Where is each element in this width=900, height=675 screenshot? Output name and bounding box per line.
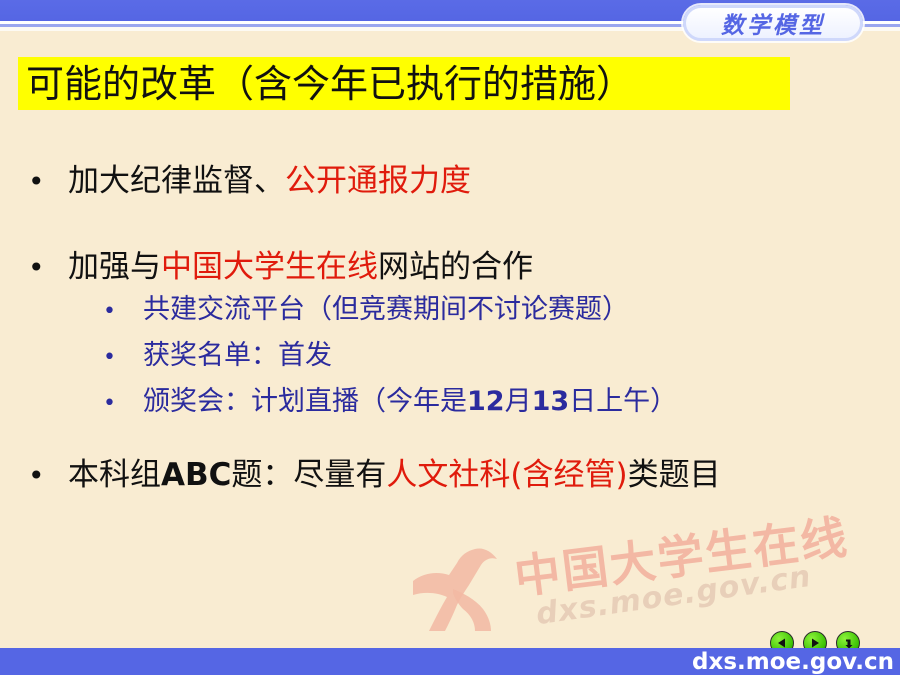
bullet-2-segment-plain-b: 网站的合作 xyxy=(378,249,533,285)
course-badge: 数学模型 xyxy=(683,5,863,41)
bullet-2-segment-plain-a: 加强与 xyxy=(68,249,161,285)
bullet-item-3: • 本科组ABC题：尽量有人文社科(含经管)类题目 xyxy=(0,458,900,494)
slide-title-band: 可能的改革（含今年已执行的措施） xyxy=(18,57,790,110)
presentation-slide: 数学模型 可能的改革（含今年已执行的措施） • 加大纪律监督、公开通报力度 • … xyxy=(0,0,900,675)
footer-url: dxs.moe.gov.cn xyxy=(692,649,894,675)
page-title: 可能的改革（含今年已执行的措施） xyxy=(26,65,634,103)
course-badge-label: 数学模型 xyxy=(721,6,825,40)
bullet-1-segment-red: 公开通报力度 xyxy=(285,163,471,199)
sub-bullet-text-1: 共建交流平台（但竞赛期间不讨论赛题） xyxy=(143,294,629,325)
sub-bullet-3-segment-b: 月 xyxy=(505,386,532,417)
watermark: 中国大学生在线 dxs.moe.gov.cn xyxy=(405,525,875,640)
sub-bullet-text-2: 获奖名单：首发 xyxy=(143,340,332,371)
sub-bullet-marker-icon: • xyxy=(103,347,143,369)
bullet-3-segment-a: 本科组 xyxy=(68,457,161,493)
bullet-3-segment-c: 类题目 xyxy=(628,457,721,493)
bullet-text-2: 加强与中国大学生在线网站的合作 xyxy=(68,250,533,286)
running-figure-icon xyxy=(405,533,525,633)
sub-bullet-item-3: • 颁奖会：计划直播（今年是12月13日上午） xyxy=(0,386,900,417)
bullet-3-segment-red: 人文社科(含经管) xyxy=(386,457,627,493)
bullet-item-2: • 加强与中国大学生在线网站的合作 xyxy=(0,250,900,286)
sub-bullet-3-segment-a: 颁奖会：计划直播（今年是 xyxy=(143,386,467,417)
bullet-text-1: 加大纪律监督、公开通报力度 xyxy=(68,164,471,200)
bullet-marker-icon: • xyxy=(28,462,68,490)
sub-bullet-3-segment-c: 日上午） xyxy=(569,386,677,417)
bullet-item-1: • 加大纪律监督、公开通报力度 xyxy=(0,164,900,200)
watermark-brand: 中国大学生在线 xyxy=(510,501,852,607)
bullet-marker-icon: • xyxy=(28,254,68,282)
sub-bullet-item-1: • 共建交流平台（但竞赛期间不讨论赛题） xyxy=(0,294,900,325)
bullet-text-3: 本科组ABC题：尽量有人文社科(含经管)类题目 xyxy=(68,458,721,494)
sub-bullet-3-month-number: 12 xyxy=(467,386,505,417)
bullet-3-segment-b: 题：尽量有 xyxy=(231,457,386,493)
sub-bullet-text-3: 颁奖会：计划直播（今年是12月13日上午） xyxy=(143,386,677,417)
bullet-3-problem-codes: ABC xyxy=(161,457,231,493)
bullet-2-segment-red: 中国大学生在线 xyxy=(161,249,378,285)
sub-bullet-3-day-number: 13 xyxy=(532,386,570,417)
bullet-marker-icon: • xyxy=(28,168,68,196)
sub-bullet-marker-icon: • xyxy=(103,393,143,415)
sub-bullet-marker-icon: • xyxy=(103,301,143,323)
sub-bullet-item-2: • 获奖名单：首发 xyxy=(0,340,900,371)
watermark-url: dxs.moe.gov.cn xyxy=(534,559,814,632)
bullet-1-segment-plain: 加大纪律监督、 xyxy=(68,163,285,199)
